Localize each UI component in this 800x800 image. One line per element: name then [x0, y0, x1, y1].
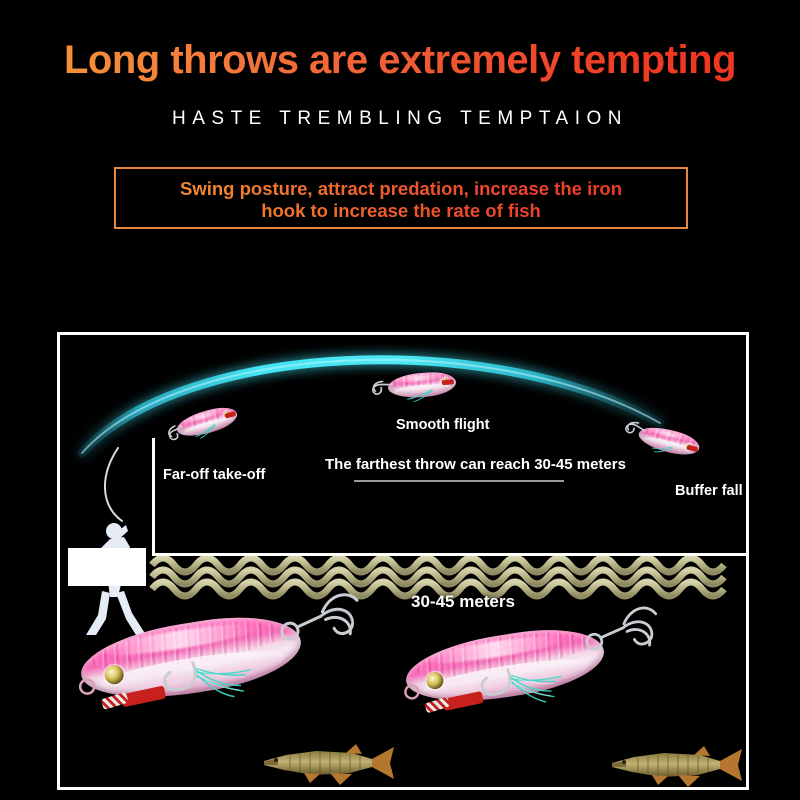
throw-arc-path: [82, 360, 660, 453]
fishing-rod-line: [105, 448, 122, 521]
bait-fish-left: [260, 735, 400, 790]
label-farthest-throw: The farthest throw can reach 30-45 meter…: [325, 456, 626, 473]
page-title: Long throws are extremely tempting: [0, 38, 800, 83]
tagline-line-1: Swing posture, attract predation, increa…: [116, 178, 686, 200]
label-buffer-fall: Buffer fall: [675, 483, 743, 499]
assist-hook-tape: [442, 379, 454, 385]
bait-fish-right: [608, 737, 748, 790]
label-far-off-take-off: Far-off take-off: [163, 467, 265, 483]
label-smooth-flight: Smooth flight: [396, 417, 489, 433]
label-bracket-distance: 30-45 meters: [411, 592, 515, 612]
water-waves: [152, 558, 724, 596]
tagline-text: Swing posture, attract predation, increa…: [116, 178, 686, 222]
tagline-box: Swing posture, attract predation, increa…: [114, 167, 688, 229]
throw-arc-highlight: [82, 360, 660, 453]
diagram-panel: Far-off take-off Smooth flight The farth…: [57, 332, 749, 790]
poster-root: Long throws are extremely tempting HASTE…: [0, 0, 800, 800]
bracket-baseline: [152, 553, 749, 556]
tagline-line-2: hook to increase the rate of fish: [116, 200, 686, 222]
angler-platform: [68, 548, 146, 586]
farthest-throw-underline: [354, 480, 564, 482]
flight-lure-apex: [387, 370, 457, 400]
bracket-left-tick: [152, 438, 155, 556]
page-subtitle: HASTE TREMBLING TEMPTAION: [0, 108, 800, 130]
